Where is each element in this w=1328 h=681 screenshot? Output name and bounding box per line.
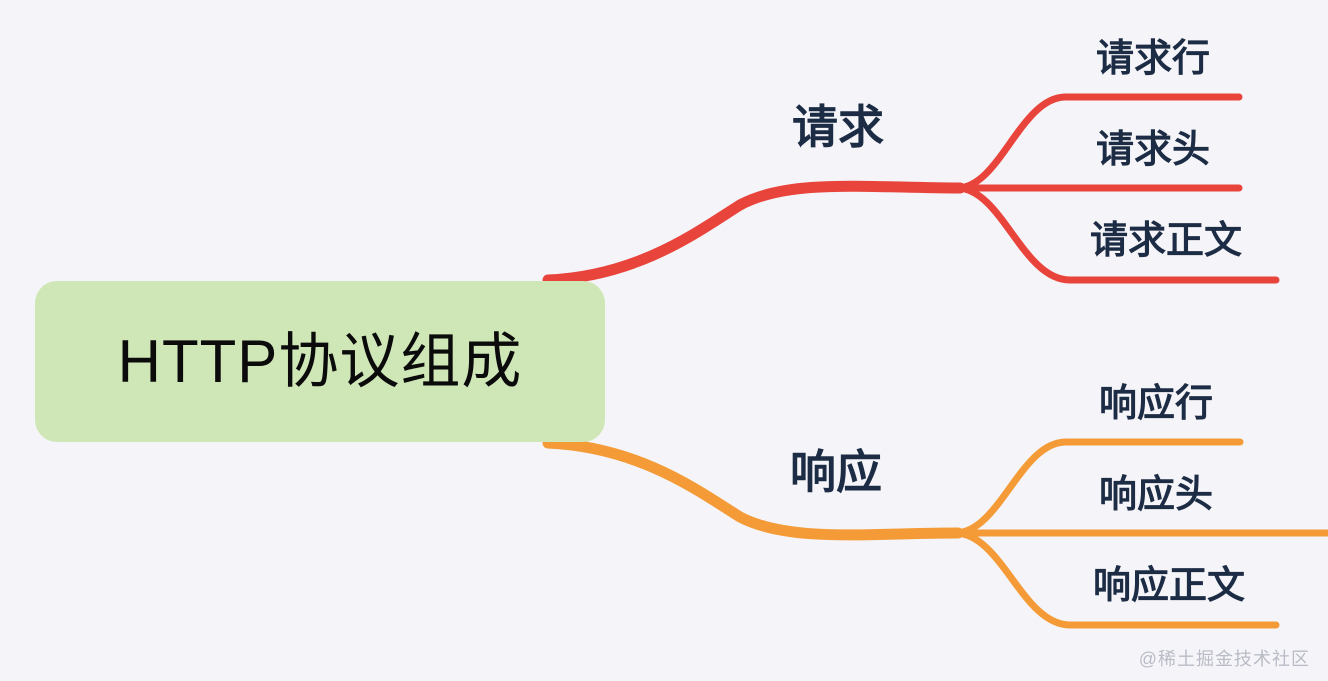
root-node-label: HTTP协议组成 [118,332,523,392]
connector-root-to-response [548,443,958,535]
leaf-label-request-body[interactable]: 请求正文 [1090,222,1242,260]
leaf-label-response-header[interactable]: 响应头 [1099,476,1213,514]
connector-root-to-request [548,186,960,280]
watermark: @稀土掘金技术社区 [1139,645,1310,671]
leaf-label-response-line[interactable]: 响应行 [1099,385,1213,423]
leaf-label-request-line[interactable]: 请求行 [1096,40,1210,78]
mindmap-canvas: HTTP协议组成 请求 响应 请求行 请求头 请求正文 响应行 响应头 响应正文… [0,0,1328,681]
branch-label-request[interactable]: 请求 [792,104,884,150]
leaf-label-response-body[interactable]: 响应正文 [1093,567,1245,605]
root-node[interactable]: HTTP协议组成 [35,281,605,442]
branch-label-response[interactable]: 响应 [790,449,882,495]
leaf-label-request-header[interactable]: 请求头 [1096,131,1210,169]
